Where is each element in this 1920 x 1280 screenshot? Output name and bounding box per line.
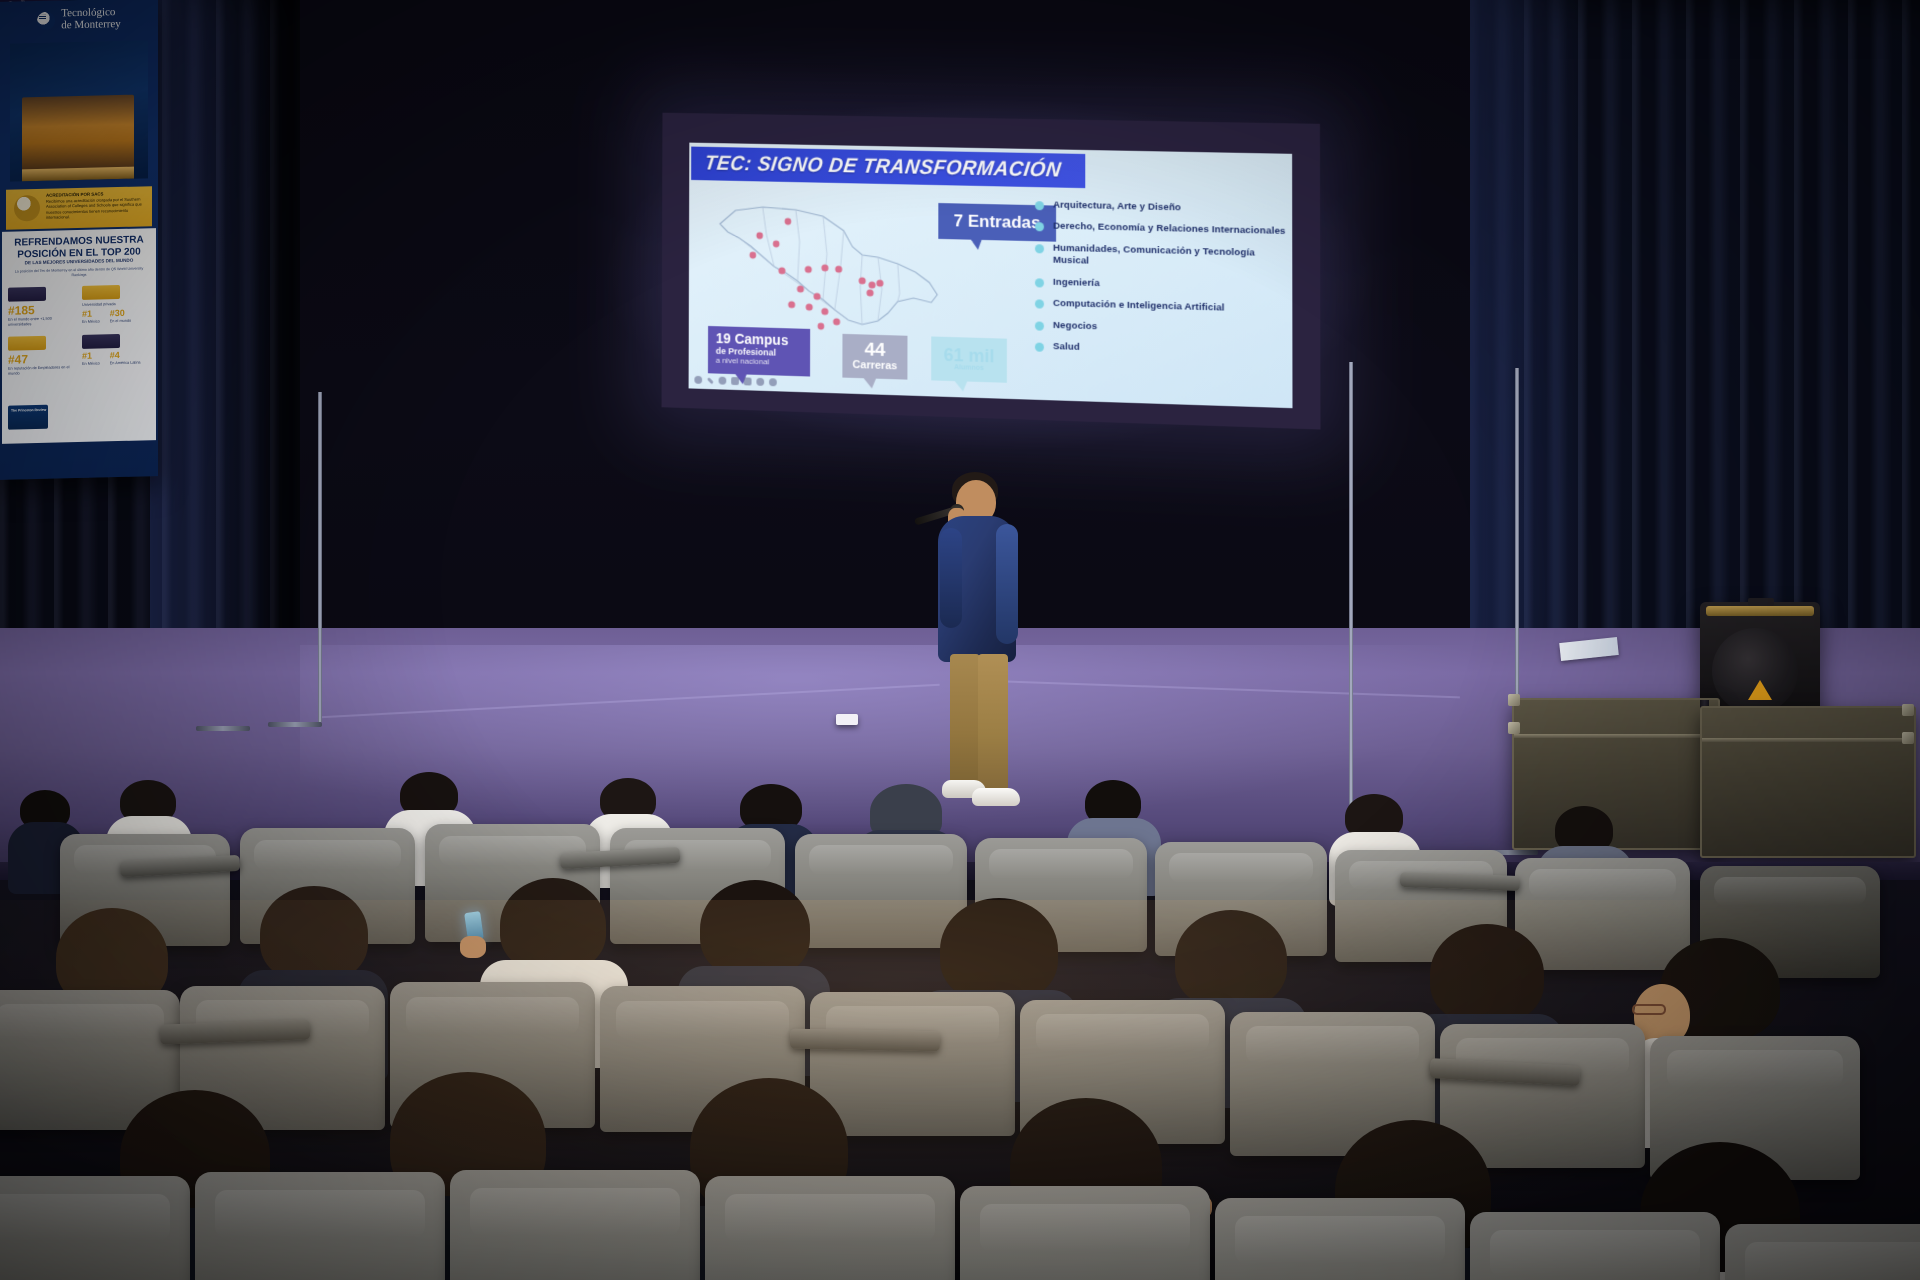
stat-rank: #1 xyxy=(82,309,100,318)
rankings-grid: #185 En el mundo entre +1,500 universida… xyxy=(8,284,150,386)
banner-pole xyxy=(318,392,322,722)
callout-alumnos-label: Alumnos xyxy=(954,364,984,373)
banner-right-graphic: Tecnológico de Monterrey ACREDITACIÓN PO… xyxy=(0,0,158,480)
banner-right-brand: Tecnológico de Monterrey xyxy=(0,6,158,33)
bullet-label: Humanidades, Comunicación y Tecnología M… xyxy=(1053,243,1289,274)
theater-seat[interactable] xyxy=(795,834,967,948)
stat-context: Universidad privada xyxy=(82,301,150,307)
theater-seat[interactable] xyxy=(0,1176,190,1280)
road-case-right xyxy=(1700,706,1916,858)
bullet-dot-icon xyxy=(1035,321,1044,330)
case-band xyxy=(1514,734,1718,738)
stat-rank: #1 xyxy=(82,352,100,361)
ranking-badge-icon xyxy=(82,334,120,349)
more-icon[interactable] xyxy=(769,378,777,386)
theater-seat[interactable] xyxy=(450,1170,700,1280)
ranking-badge-icon xyxy=(8,287,46,302)
brand-text: Tecnológico de Monterrey xyxy=(61,7,121,32)
bullet-label: Ingeniería xyxy=(1053,277,1100,291)
audience-area xyxy=(0,880,1920,1280)
stage-clicker xyxy=(836,714,858,725)
stat-pair: #4 En América Latina xyxy=(110,351,141,366)
slide-title-bar: TEC: SIGNO DE TRANSFORMACIÓN xyxy=(691,147,1085,189)
stat-caption: En México xyxy=(82,319,100,324)
case-corner xyxy=(1508,694,1520,706)
theater-seat[interactable] xyxy=(960,1186,1210,1280)
eyeglasses-icon xyxy=(1632,1004,1666,1015)
case-corner xyxy=(1902,732,1914,744)
list-item: Salud xyxy=(1035,341,1289,361)
stat-caption: En reputación de Empleadores en el mundo xyxy=(8,366,76,377)
pa-speaker-handle xyxy=(1748,598,1774,606)
pa-speaker-woofer xyxy=(1712,628,1798,714)
bullet-label: Negocios xyxy=(1053,320,1097,334)
hair-long xyxy=(260,886,368,982)
callout-alumnos: 61 mil Alumnos xyxy=(931,336,1007,382)
list-item: Ingeniería xyxy=(1035,276,1289,295)
zoom-icon[interactable] xyxy=(719,377,727,385)
bullet-label: Salud xyxy=(1053,341,1080,354)
stat-rank: #47 xyxy=(8,353,76,367)
presenter-sleeve xyxy=(996,524,1018,644)
list-item: Derecho, Economía y Relaciones Internaci… xyxy=(1035,221,1289,239)
presentation-slide: TEC: SIGNO DE TRANSFORMACIÓN xyxy=(689,143,1293,409)
banner-pole xyxy=(1349,362,1353,854)
stat-inline-group: #1 En México #4 En América Latina xyxy=(82,351,150,367)
theater-seat[interactable] xyxy=(1470,1212,1720,1280)
callout-alumnos-number: 61 mil xyxy=(944,346,995,366)
bullet-dot-icon xyxy=(1035,300,1044,309)
presenter-sleeve xyxy=(940,528,962,628)
banner-foot xyxy=(196,726,250,731)
banner-right-campus-photo xyxy=(10,40,148,181)
bullet-dot-icon xyxy=(1035,343,1044,352)
theater-seat[interactable] xyxy=(810,992,1015,1136)
pa-speaker-horn xyxy=(1706,606,1814,616)
stat-cell: #1 En México #4 En América Latina xyxy=(82,334,150,375)
stat-cell: #47 En reputación de Empleadores en el m… xyxy=(8,336,76,377)
accreditation-seal-icon xyxy=(14,195,40,222)
theater-seat[interactable] xyxy=(705,1176,955,1280)
banner-right-rankings-panel: REFRENDAMOS NUESTRA POSICIÓN EN EL TOP 2… xyxy=(2,228,156,444)
auditorium-scene: TEC: SIGNO DE TRANSFORMACIÓN xyxy=(0,0,1920,1280)
hair-long xyxy=(1430,924,1544,1024)
theater-seat[interactable] xyxy=(195,1172,445,1280)
bullet-label: Derecho, Economía y Relaciones Internaci… xyxy=(1053,221,1286,239)
stat-cell: Universidad privada #1 En México #30 En … xyxy=(82,284,150,325)
pen-icon[interactable] xyxy=(707,377,714,384)
callout-tail xyxy=(953,379,968,391)
callout-carreras-number: 44 xyxy=(864,340,885,360)
list-item: Humanidades, Comunicación y Tecnología M… xyxy=(1035,242,1289,273)
brand-line2: de Monterrey xyxy=(61,19,121,32)
callout-tail xyxy=(862,376,877,388)
case-band xyxy=(1702,738,1914,742)
callout-tail xyxy=(968,236,983,250)
presenter-pants-left xyxy=(950,654,980,786)
ranking-badge-icon xyxy=(8,336,46,351)
stat-pair: #30 En el mundo xyxy=(110,308,131,323)
stat-rank: #185 xyxy=(8,303,76,317)
mexico-map xyxy=(706,194,951,349)
hand xyxy=(460,936,486,958)
presenter-pants-right xyxy=(978,654,1008,790)
stat-caption: En México xyxy=(82,362,100,367)
table-row: #185 En el mundo entre +1,500 universida… xyxy=(8,284,150,327)
callout-campus-line3: a nivel nacional xyxy=(716,356,804,368)
banner-foot xyxy=(268,722,322,727)
stat-rank: #4 xyxy=(110,351,141,361)
cursor-icon[interactable] xyxy=(694,376,702,384)
presenter-shoe-right xyxy=(972,788,1020,806)
stat-rank: #30 xyxy=(110,308,131,318)
theater-seat[interactable] xyxy=(1725,1224,1920,1280)
list-item: Computación e Inteligencia Artificial xyxy=(1035,298,1289,318)
campus-building xyxy=(22,95,134,172)
seat-armrest xyxy=(790,1029,940,1052)
partner-logo: The Princeton Review xyxy=(8,405,48,430)
mexico-map-svg xyxy=(706,194,951,349)
slide-title: TEC: SIGNO DE TRANSFORMACIÓN xyxy=(690,152,1063,183)
ranking-badge-icon xyxy=(82,285,120,300)
stat-caption: En América Latina xyxy=(110,361,141,366)
hair-long xyxy=(500,878,606,972)
bullet-label: Computación e Inteligencia Artificial xyxy=(1053,298,1225,315)
case-corner xyxy=(1902,704,1914,716)
callout-carreras: 44 Carreras xyxy=(842,334,907,380)
eraser-icon[interactable] xyxy=(756,378,764,386)
projection-screen: TEC: SIGNO DE TRANSFORMACIÓN xyxy=(662,113,1321,430)
stat-pair: #1 En México xyxy=(82,309,100,324)
hair-long xyxy=(940,898,1058,1002)
note-icon[interactable] xyxy=(744,377,752,385)
bullet-label: Arquitectura, Arte y Diseño xyxy=(1053,199,1181,214)
table-row: #47 En reputación de Empleadores en el m… xyxy=(8,334,150,377)
road-case-left xyxy=(1512,698,1720,850)
accreditation-body: Recibimos una acreditación otorgada por … xyxy=(46,196,146,220)
pdf-viewer-toolbar[interactable] xyxy=(694,376,776,387)
stat-pair: #1 En México xyxy=(82,352,100,367)
callout-entradas-label: 7 Entradas xyxy=(954,211,1041,233)
theater-seat[interactable] xyxy=(1515,858,1690,970)
callout-carreras-label: Carreras xyxy=(853,359,898,374)
stat-cell: #185 En el mundo entre +1,500 universida… xyxy=(8,286,76,327)
hair-long xyxy=(700,880,810,978)
slide-bullet-list: Arquitectura, Arte y Diseño Derecho, Eco… xyxy=(1035,199,1289,370)
bullet-dot-icon xyxy=(1035,278,1044,287)
bullet-dot-icon xyxy=(1035,223,1044,232)
bullet-dot-icon xyxy=(1035,201,1044,210)
stat-inline-group: #1 En México #30 En el mundo xyxy=(82,308,150,324)
bullet-dot-icon xyxy=(1035,244,1044,253)
callout-campus: 19 Campus de Profesional a nivel naciona… xyxy=(708,326,810,377)
presenter xyxy=(910,472,1040,832)
banner-stand-right: Tecnológico de Monterrey ACREDITACIÓN PO… xyxy=(0,0,158,478)
list-item: Arquitectura, Arte y Diseño xyxy=(1035,199,1289,217)
list-item: Negocios xyxy=(1035,319,1289,339)
tec-logo-icon xyxy=(37,11,55,29)
theater-seat[interactable] xyxy=(1215,1198,1465,1280)
stat-caption: En el mundo entre +1,500 universidades xyxy=(8,316,76,327)
case-corner xyxy=(1508,722,1520,734)
banner-right-accreditation-band: ACREDITACIÓN POR SACS Recibimos una acre… xyxy=(6,186,152,230)
partner-logo-label: The Princeton Review xyxy=(11,408,46,413)
hair-long xyxy=(1175,910,1287,1008)
rectangle-icon[interactable] xyxy=(731,377,739,385)
behringer-logo-icon xyxy=(1748,680,1772,700)
accreditation-text-group: ACREDITACIÓN POR SACS Recibimos una acre… xyxy=(46,190,146,220)
stat-caption: En el mundo xyxy=(110,318,131,323)
